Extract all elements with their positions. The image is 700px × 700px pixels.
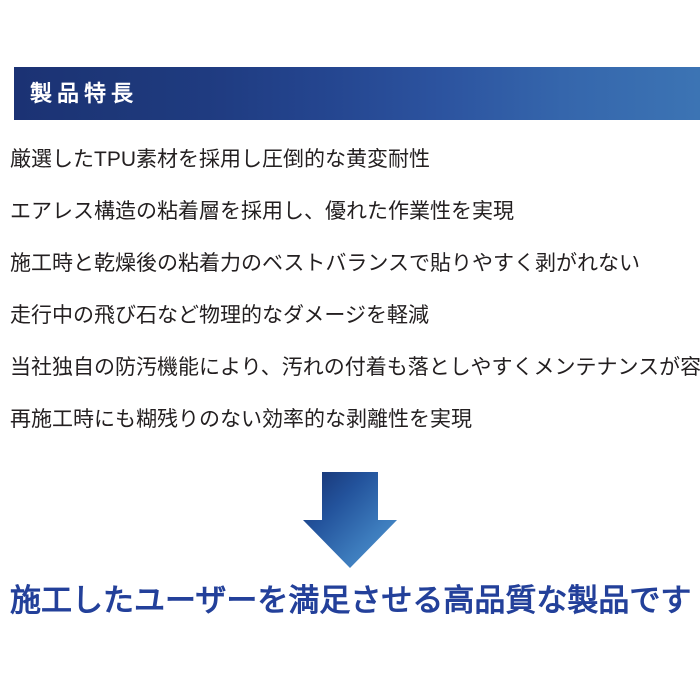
arrow-down-icon	[300, 468, 400, 572]
conclusion-headline: 施工したユーザーを満足させる高品質な製品です	[10, 582, 700, 619]
feature-item: エアレス構造の粘着層を採用し、優れた作業性を実現	[10, 201, 700, 253]
feature-item: 当社独自の防汚機能により、汚れの付着も落としやすくメンテナンスが容易	[10, 357, 700, 409]
section-header-bar: 製品特長	[14, 67, 700, 120]
feature-item: 再施工時にも糊残りのない効率的な剥離性を実現	[10, 409, 700, 461]
feature-list: 厳選したTPU素材を採用し圧倒的な黄変耐性 エアレス構造の粘着層を採用し、優れた…	[10, 149, 700, 461]
feature-item: 走行中の飛び石など物理的なダメージを軽減	[10, 305, 700, 357]
section-header-title: 製品特長	[30, 83, 138, 105]
product-features-page: 製品特長 厳選したTPU素材を採用し圧倒的な黄変耐性 エアレス構造の粘着層を採用…	[0, 0, 700, 700]
feature-item: 厳選したTPU素材を採用し圧倒的な黄変耐性	[10, 149, 700, 201]
feature-item: 施工時と乾燥後の粘着力のベストバランスで貼りやすく剥がれない	[10, 253, 700, 305]
